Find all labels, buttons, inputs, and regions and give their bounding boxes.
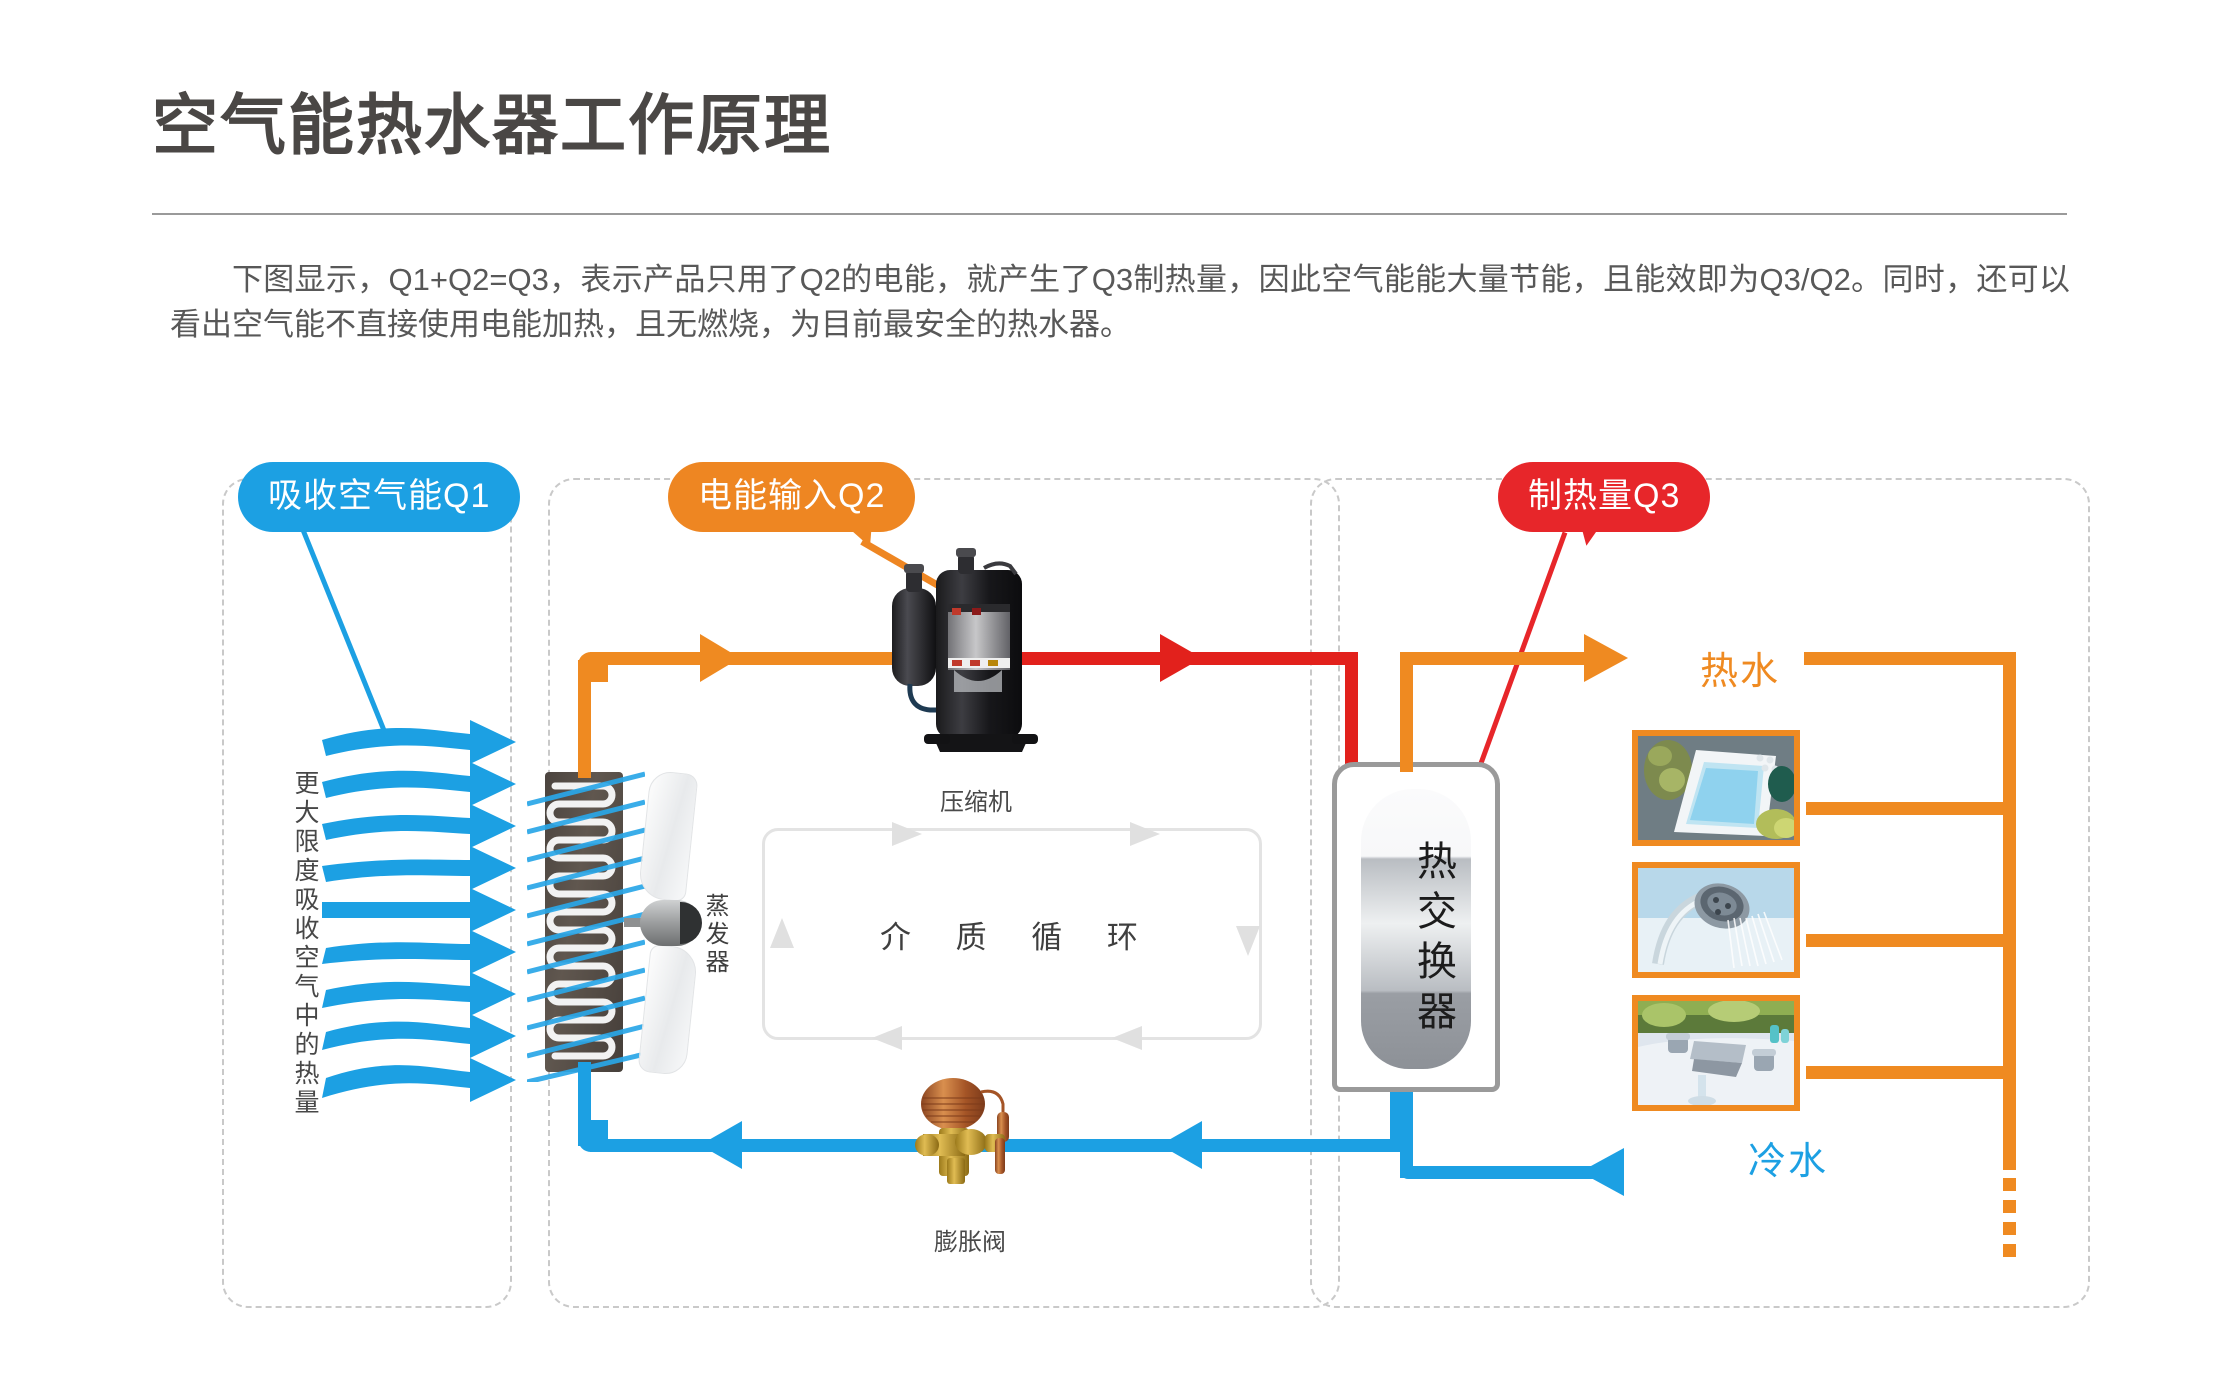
arrow-hotwater [1584, 634, 1628, 682]
photo-sink-faucet [1632, 995, 1800, 1111]
pipe-hotwater-supply [1804, 652, 2016, 665]
air-absorption-caption: 更大限度吸收空气中的热量 [287, 770, 323, 1118]
pipe-red-downcomer [1345, 652, 1358, 772]
photo-shower-head [1632, 862, 1800, 978]
arrow-suction [700, 634, 740, 682]
title-divider [152, 213, 2067, 215]
fan-blade-bottom [637, 944, 698, 1076]
badge-tail-q3 [1573, 514, 1606, 548]
arrow-liquid-return [1160, 1121, 1202, 1169]
cold-water-label: 冷水 [1748, 1130, 1828, 1185]
expansion-valve-image [905, 1072, 1037, 1192]
medium-circulation-label: 介 质 循 环 [880, 912, 1156, 957]
pipe-hotwater-riser-right [2003, 652, 2016, 1170]
pipe-dash-2 [2003, 1200, 2016, 1213]
compressor-label: 压缩机 [940, 782, 1012, 817]
pipe-branch-bathtub [1806, 802, 2016, 815]
expansion-valve-label: 膨胀阀 [934, 1222, 1006, 1257]
airflow-arrows [320, 712, 550, 1112]
arrow-discharge [1160, 634, 1202, 682]
evaporator-coil-block [545, 772, 623, 1072]
hot-water-label: 热水 [1700, 640, 1780, 695]
photo-bathtub [1632, 730, 1800, 846]
arrow-coldwater [1580, 1148, 1624, 1196]
compressor-image [880, 548, 1070, 768]
pipe-elbow-blue-bottom [578, 1120, 608, 1152]
pipe-liquid-return-left [590, 1139, 920, 1152]
pipe-branch-faucet [1806, 1066, 2016, 1079]
pipe-branch-shower [1806, 934, 2016, 947]
pipe-hotwater-header [1420, 652, 1604, 665]
fan-blade-top [637, 770, 698, 902]
heat-exchanger-label: 热交换器 [1404, 840, 1462, 1040]
evaporator-fan [638, 768, 704, 1078]
page-title: 空气能热水器工作原理 [152, 72, 832, 168]
pipe-dash-1 [2003, 1178, 2016, 1191]
pipe-dash-4 [2003, 1244, 2016, 1257]
badge-electric-input: 电能输入Q2 [668, 462, 915, 532]
pipe-hotwater-riser [1400, 652, 1413, 772]
pipe-dash-3 [2003, 1222, 2016, 1235]
intro-paragraph: 下图显示，Q1+Q2=Q3，表示产品只用了Q2的电能，就产生了Q3制热量，因此空… [170, 258, 2070, 348]
evaporator-label: 蒸发器 [697, 893, 732, 977]
arrow-to-evaporator [700, 1121, 742, 1169]
badge-absorbed-air-energy: 吸收空气能Q1 [238, 462, 520, 532]
